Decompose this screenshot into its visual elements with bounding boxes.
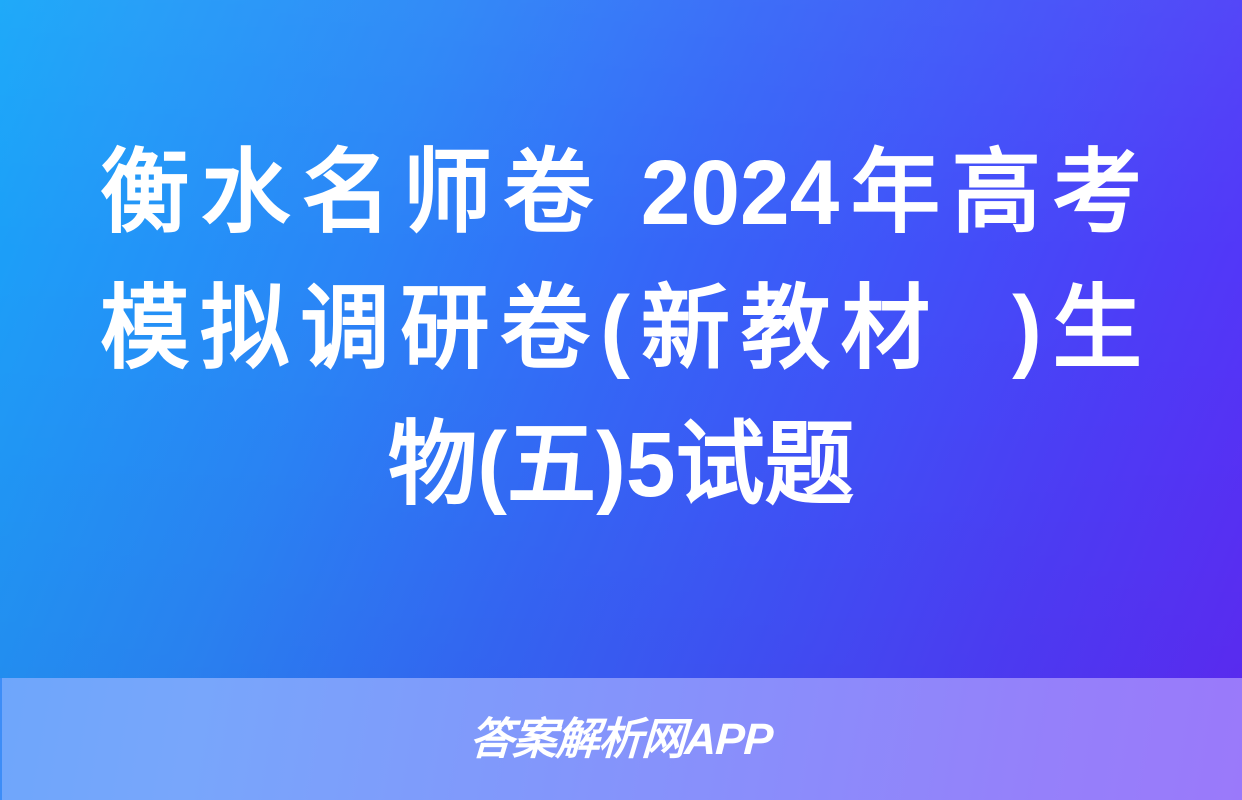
page-title: 衡水名师卷 2024年高考 模拟调研卷(新教材 )生 物(五)5试题 (0, 0, 1242, 678)
watermark: 答案解析网APP (0, 678, 1242, 800)
title-line-2: 模拟调研卷(新教材 )生 (100, 261, 1142, 397)
exam-paper-title-card: 衡水名师卷 2024年高考 模拟调研卷(新教材 )生 物(五)5试题 答案解析网… (0, 0, 1242, 800)
watermark-label: 答案解析网APP (468, 703, 774, 767)
title-line-3: 物(五)5试题 (100, 397, 1142, 533)
footer-strip: 答案解析网APP (0, 678, 1242, 800)
title-line-1: 衡水名师卷 2024年高考 (100, 125, 1142, 261)
